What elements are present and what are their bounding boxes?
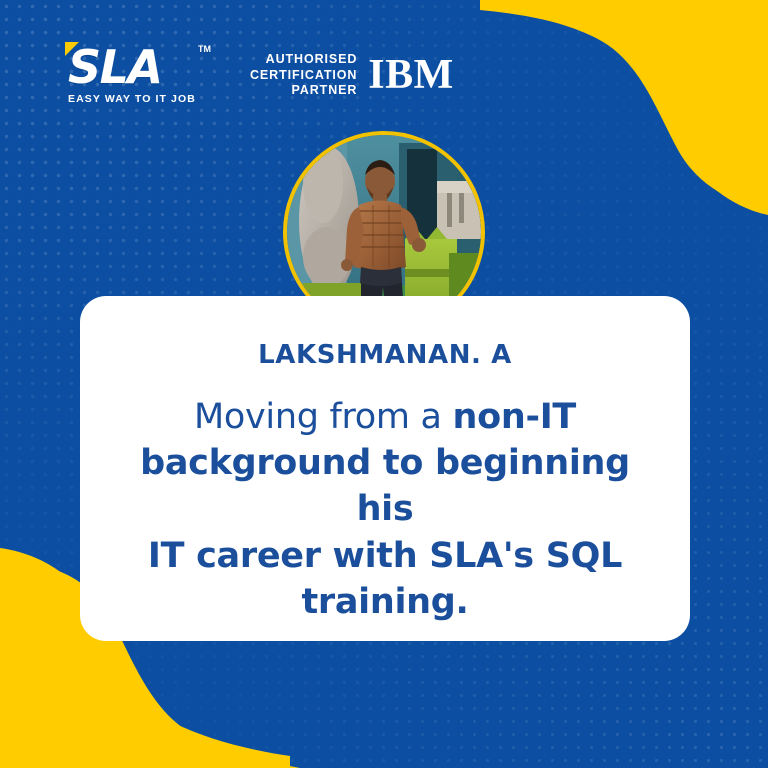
trademark-icon: TM [198, 45, 211, 54]
ibm-partner-badge: AUTHORISED CERTIFICATION PARTNER IBM [250, 52, 454, 99]
partner-line-2: CERTIFICATION [250, 68, 357, 84]
ibm-logo: IBM [368, 54, 454, 96]
certification-text: AUTHORISED CERTIFICATION PARTNER [250, 52, 357, 99]
text-segment-bold: training. [301, 582, 468, 622]
partner-line-1: AUTHORISED [250, 52, 357, 68]
person-name: LAKSHMANAN. A [108, 342, 662, 368]
text-segment-bold: background to beginning his [140, 443, 630, 529]
testimonial-line: training. [108, 579, 662, 625]
sla-yellow-accent-icon [65, 42, 79, 56]
testimonial-card: LAKSHMANAN. A Moving from a non-ITbackgr… [80, 296, 690, 641]
testimonial-text: Moving from a non-ITbackground to beginn… [108, 394, 662, 625]
sla-tagline: EASY WAY TO IT JOB [68, 93, 198, 105]
text-segment-bold: IT career with SLA's SQL [148, 536, 622, 576]
testimonial-line: background to beginning his [108, 440, 662, 532]
poster-header: SLA TM EASY WAY TO IT JOB AUTHORISED CER… [0, 0, 768, 130]
testimonial-line: IT career with SLA's SQL [108, 533, 662, 579]
sla-logo: SLA TM EASY WAY TO IT JOB [68, 44, 198, 105]
testimonial-line: Moving from a non-IT [108, 394, 662, 440]
promotional-poster: SLA TM EASY WAY TO IT JOB AUTHORISED CER… [0, 0, 768, 768]
partner-line-3: PARTNER [250, 83, 357, 99]
text-segment-bold: non-IT [453, 397, 577, 437]
sla-wordmark-text: SLA [68, 40, 162, 94]
text-segment: Moving from a [194, 397, 453, 437]
sla-wordmark-container: SLA TM [68, 44, 198, 90]
